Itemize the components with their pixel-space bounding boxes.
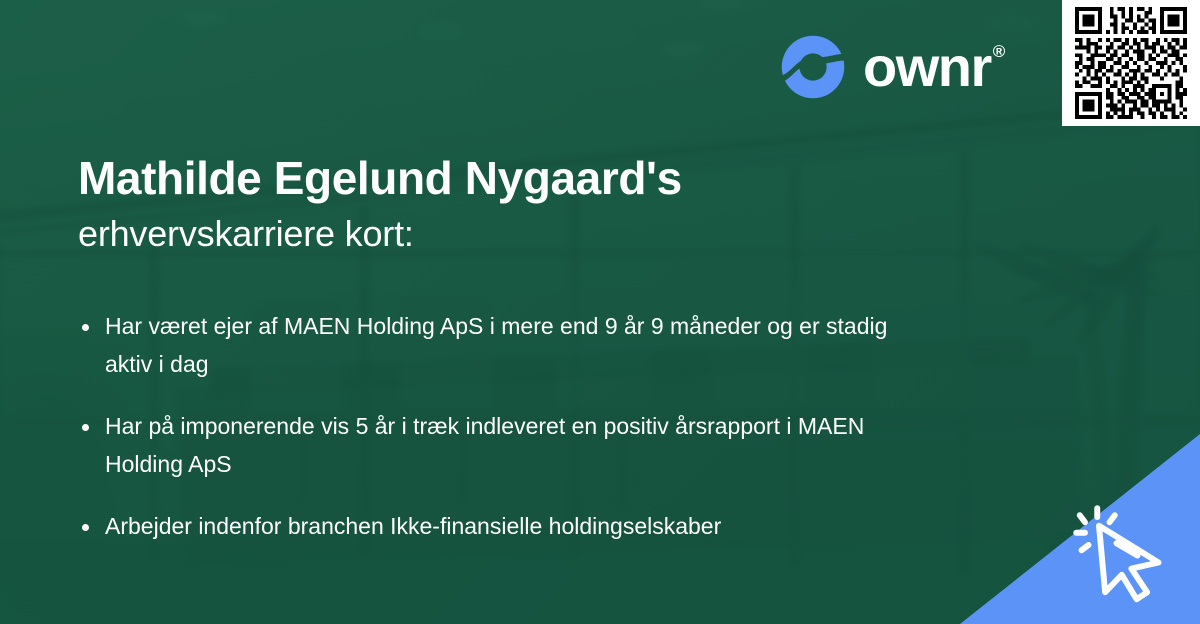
list-item: Har på imponerende vis 5 år i træk indle…	[78, 408, 958, 484]
brand-name: ownr	[863, 39, 991, 95]
qr-code-panel[interactable]	[1062, 0, 1200, 126]
click-cursor-icon[interactable]	[1064, 496, 1176, 608]
ownr-logo[interactable]: ownr ®	[779, 33, 1004, 101]
ownr-wordmark: ownr ®	[863, 39, 1004, 95]
person-name: Mathilde Egelund Nygaard's	[78, 152, 682, 205]
bullet-dot-icon	[82, 424, 89, 431]
bullet-dot-icon	[82, 524, 89, 531]
career-card: ownr ®	[0, 0, 1200, 624]
career-facts-list: Har været ejer af MAEN Holding ApS i mer…	[78, 308, 958, 546]
bullet-dot-icon	[82, 324, 89, 331]
subtitle: erhvervskarriere kort:	[78, 211, 682, 258]
qr-code-icon	[1075, 7, 1187, 119]
registered-trademark-icon: ®	[993, 43, 1004, 60]
list-item: Har været ejer af MAEN Holding ApS i mer…	[78, 308, 958, 384]
list-item: Arbejder indenfor branchen Ikke-finansie…	[78, 508, 958, 546]
list-item-label: Har på imponerende vis 5 år i træk indle…	[105, 408, 905, 484]
corner-accent	[960, 434, 1200, 624]
ownr-circle-wave-icon	[779, 33, 847, 101]
list-item-label: Arbejder indenfor branchen Ikke-finansie…	[105, 508, 905, 546]
page-title: Mathilde Egelund Nygaard's erhvervskarri…	[78, 152, 682, 258]
list-item-label: Har været ejer af MAEN Holding ApS i mer…	[105, 308, 905, 384]
